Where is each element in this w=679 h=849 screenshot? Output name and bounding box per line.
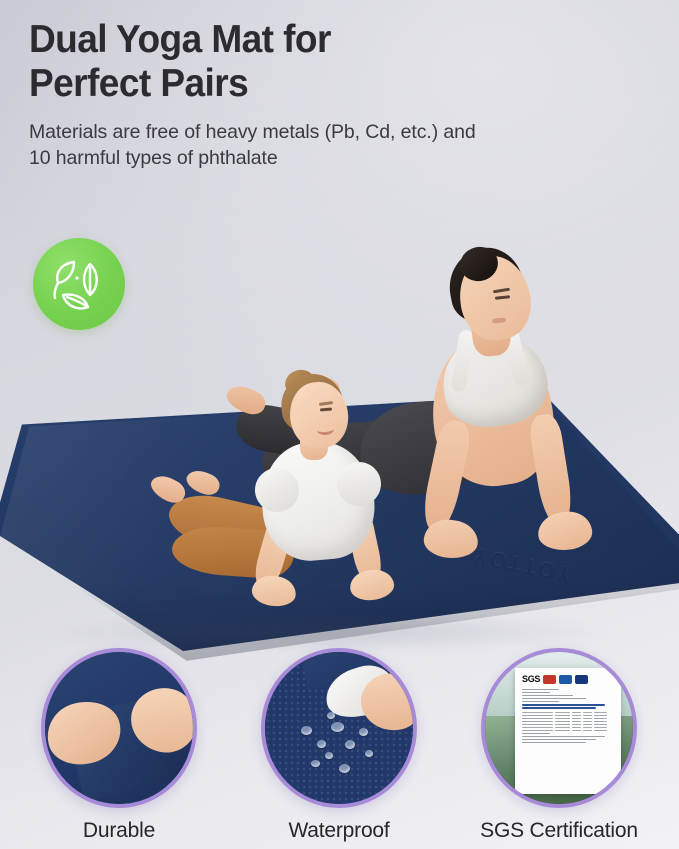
- doc-line: [522, 733, 550, 734]
- eco-badge: [33, 238, 125, 330]
- doc-line: [522, 692, 550, 693]
- page-subtitle: Materials are free of heavy metals (Pb, …: [29, 120, 649, 172]
- hands-stretching-mat-icon: [41, 648, 197, 808]
- certificate-document: SGS: [515, 668, 621, 794]
- feature-sgs: SGS: [466, 648, 652, 843]
- feature-durable: Durable: [26, 648, 212, 843]
- seal-navy-icon: [575, 675, 588, 684]
- feature-label: Waterproof: [246, 819, 432, 843]
- water-drop: [301, 726, 312, 735]
- feature-waterproof: Waterproof: [246, 648, 432, 843]
- page-title: Dual Yoga Mat for Perfect Pairs: [29, 18, 618, 107]
- water-droplets-wipe-icon: [261, 648, 417, 808]
- water-drop: [345, 740, 355, 749]
- doc-table: [522, 712, 614, 731]
- header: Dual Yoga Mat for Perfect Pairs Material…: [29, 18, 649, 172]
- doc-table-row: [522, 727, 614, 728]
- doc-table-row: [522, 712, 614, 713]
- water-drop: [339, 764, 350, 773]
- feature-list: Durable Waterproof: [0, 648, 679, 849]
- feature-label: SGS Certification: [466, 819, 652, 843]
- doc-table-row: [522, 724, 614, 725]
- water-drop: [359, 728, 368, 736]
- water-drop: [311, 760, 320, 767]
- doc-line: [522, 739, 596, 740]
- seal-red-icon: [543, 675, 556, 684]
- water-drop: [365, 750, 373, 757]
- doc-line-highlight: [522, 707, 596, 709]
- feature-label: Durable: [26, 819, 212, 843]
- doc-table-row: [522, 715, 614, 716]
- sgs-certificate-icon: SGS: [481, 648, 637, 808]
- seal-blue-icon: [559, 675, 572, 684]
- certificate-header: SGS: [522, 674, 614, 684]
- water-drop: [331, 722, 344, 732]
- doc-line: [522, 701, 559, 702]
- doc-line: [522, 689, 559, 690]
- water-drop: [317, 740, 326, 748]
- doc-line: [522, 695, 573, 696]
- doc-table-row: [522, 730, 614, 731]
- doc-table-row: [522, 718, 614, 719]
- doc-line: [522, 736, 605, 737]
- doc-line-highlight: [522, 704, 605, 706]
- water-drop: [325, 752, 333, 759]
- doc-line: [522, 742, 586, 743]
- floor-shadow: [40, 612, 620, 652]
- three-leaves-icon: [33, 238, 125, 330]
- doc-line: [522, 698, 586, 699]
- product-infographic: Dual Yoga Mat for Perfect Pairs Material…: [0, 0, 679, 849]
- sgs-logo: SGS: [522, 674, 540, 684]
- doc-table-row: [522, 721, 614, 722]
